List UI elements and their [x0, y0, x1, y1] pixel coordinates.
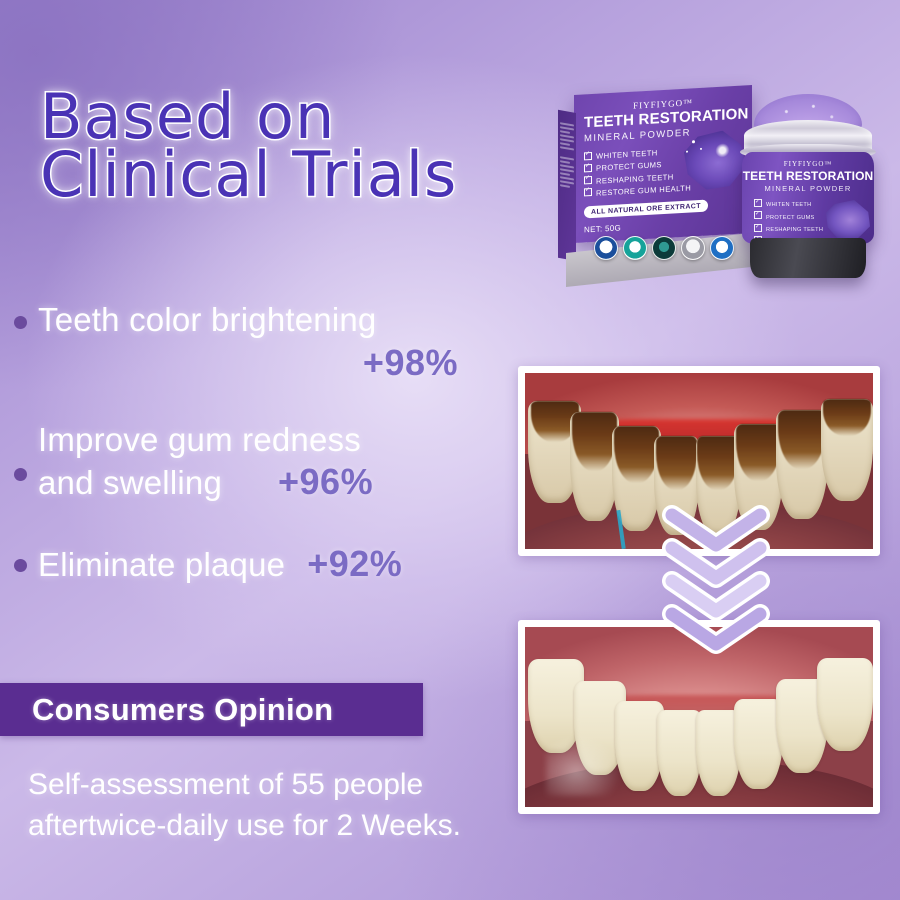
net-weight-label: NET: 50G	[584, 216, 742, 234]
benefit-item-eliminate-plaque: Eliminate plaque +92%	[0, 543, 500, 585]
checkbox-icon	[584, 164, 592, 172]
product-jar: FIYFIYGO™ TEETH RESTORATION MINERAL POWD…	[732, 92, 884, 284]
benefit-value: +92%	[307, 543, 402, 585]
australian-made-badge	[594, 236, 618, 260]
tooth	[817, 658, 873, 752]
checkbox-icon	[754, 224, 762, 232]
tartar-deposit	[736, 424, 781, 481]
certified-blue-badge	[710, 236, 734, 260]
jar-product-subtitle: MINERAL POWDER	[742, 184, 874, 193]
benefit-value: +96%	[278, 461, 373, 503]
bullet-dot-icon	[14, 316, 27, 329]
tartar-deposit	[823, 399, 871, 436]
silver-standard-badge	[681, 236, 705, 260]
transition-arrows	[662, 505, 772, 655]
benefit-label: Eliminate plaque	[38, 545, 285, 585]
checkbox-icon	[584, 176, 592, 184]
benefit-label-line-1: Improve gum redness	[38, 420, 500, 460]
benefit-label: Teeth color brightening	[38, 300, 500, 340]
product-box-front: FIYFIYGO™ TEETH RESTORATION MINERAL POWD…	[574, 85, 752, 243]
natural-extract-badge: ALL NATURAL ORE EXTRACT	[584, 200, 708, 219]
jar-product-title: TEETH RESTORATION	[742, 169, 874, 183]
tooth	[776, 410, 828, 519]
certification-badge-row	[594, 236, 734, 260]
checkbox-icon	[584, 188, 592, 196]
tooth	[821, 399, 873, 501]
bullet-dot-icon	[14, 468, 27, 481]
consumers-opinion-banner: Consumers Opinion	[0, 683, 423, 736]
checkbox-icon	[754, 199, 762, 207]
tartar-deposit	[572, 412, 617, 471]
tartar-deposit	[778, 410, 826, 469]
jar-label: FIYFIYGO™ TEETH RESTORATION MINERAL POWD…	[742, 152, 874, 244]
tartar-deposit	[697, 436, 739, 489]
jar-black-base	[750, 238, 866, 278]
dental-approved-badge	[623, 236, 647, 260]
quality-seal-badge	[652, 236, 676, 260]
checkbox-icon	[754, 211, 762, 219]
chevron-down-icon	[662, 604, 770, 656]
product-image-group: FIYFIYGO™ TEETH RESTORATION MINERAL POWD…	[560, 78, 900, 283]
tartar-deposit	[614, 426, 659, 483]
consumers-opinion-title: Consumers Opinion	[32, 692, 333, 728]
study-footnote: Self-assessment of 55 people aftertwice-…	[28, 764, 508, 847]
benefit-item-gum-redness: Improve gum redness and swelling +96%	[0, 420, 500, 503]
benefit-value: +98%	[363, 342, 458, 383]
benefit-label-line-2: and swelling	[38, 463, 222, 503]
product-box: FIYFIYGO™ TEETH RESTORATION MINERAL POWD…	[574, 85, 752, 243]
photo-highlight	[546, 735, 623, 796]
jar-brand-name: FIYFIYGO™	[742, 160, 874, 168]
side-panel-text-lines	[560, 120, 574, 190]
checkbox-icon	[584, 151, 592, 159]
benefits-list: Teeth color brightening +98% Improve gum…	[0, 300, 500, 601]
footnote-line-1: Self-assessment of 55 people	[28, 764, 508, 805]
bullet-dot-icon	[14, 559, 27, 572]
footnote-line-2: aftertwice-daily use for 2 Weeks.	[28, 805, 508, 846]
tartar-deposit	[656, 436, 698, 489]
benefit-item-teeth-brightening: Teeth color brightening +98%	[0, 300, 500, 384]
advertisement-canvas: Based on Clinical Trials FIYFIYGO™ TEETH…	[0, 0, 900, 900]
